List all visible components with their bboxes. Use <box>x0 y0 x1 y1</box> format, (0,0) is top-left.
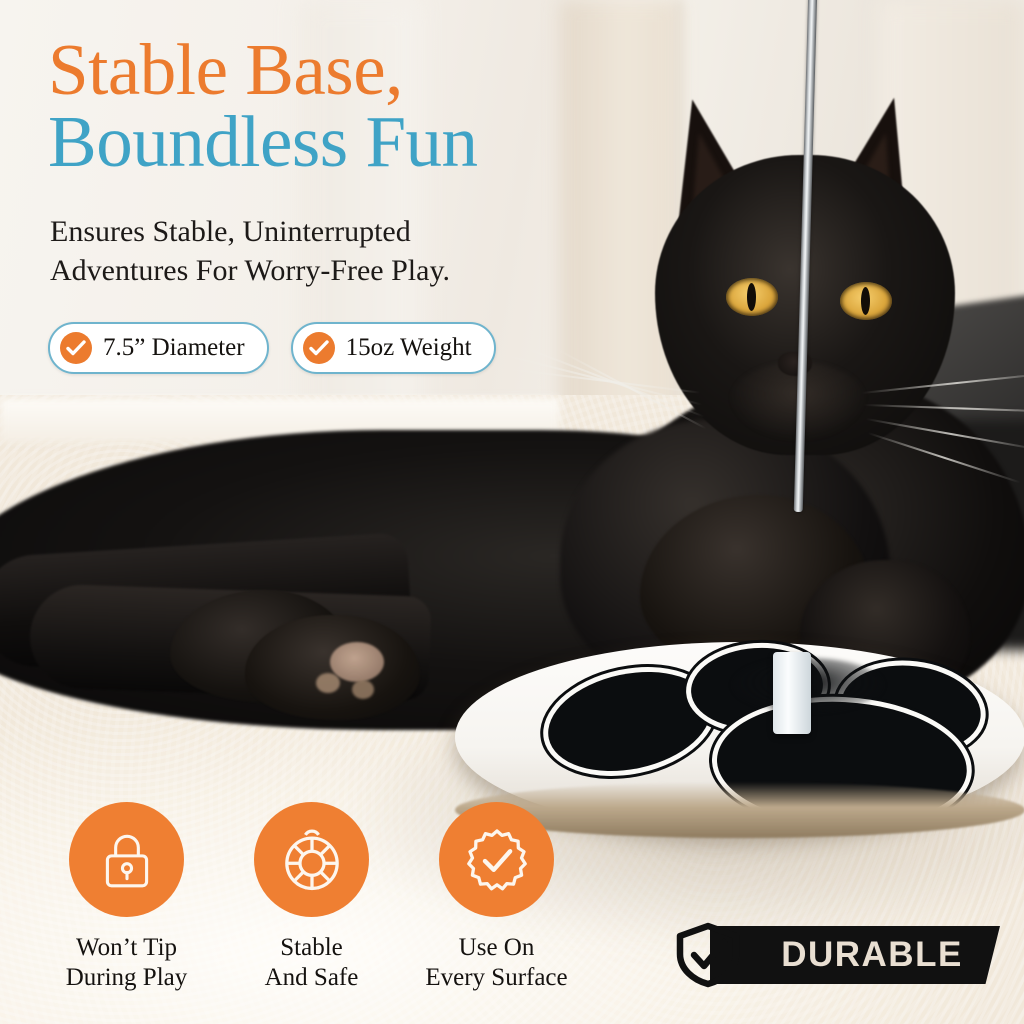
check-circle-icon <box>60 332 92 364</box>
headline-line-1: Stable Base, <box>48 34 688 106</box>
spec-pill-weight[interactable]: 15oz Weight <box>291 322 496 374</box>
page-title: Stable Base, Boundless Fun <box>48 34 688 179</box>
life-ring-icon <box>277 825 347 895</box>
durable-label: DURABLE <box>747 935 963 975</box>
spec-pill-label: 7.5” Diameter <box>103 334 245 362</box>
feature-stable-and-safe: Stable And Safe <box>229 802 394 992</box>
shield-check-icon <box>672 922 744 988</box>
feature-wont-tip: Won’t Tip During Play <box>44 802 209 992</box>
product-marketing-image: Stable Base, Boundless Fun Ensures Stabl… <box>0 0 1024 1024</box>
feature-label-line-1: Won’t Tip <box>44 933 209 963</box>
feature-label: Stable And Safe <box>229 933 394 992</box>
feature-label-line-2: During Play <box>44 963 209 993</box>
feature-label-line-1: Stable <box>229 933 394 963</box>
feature-icon-circle <box>439 802 554 917</box>
feature-label: Use On Every Surface <box>414 933 579 992</box>
feature-label-line-2: And Safe <box>229 963 394 993</box>
subheading-line-1: Ensures Stable, Uninterrupted <box>50 212 590 251</box>
feature-list: Won’t Tip During Play <box>44 802 579 992</box>
padlock-icon <box>94 827 160 893</box>
feature-icon-circle <box>254 802 369 917</box>
durable-banner-bar: DURABLE <box>710 926 1000 984</box>
subheading: Ensures Stable, Uninterrupted Adventures… <box>50 212 590 290</box>
spec-pill-diameter[interactable]: 7.5” Diameter <box>48 322 269 374</box>
spec-pill-label: 15oz Weight <box>346 334 472 362</box>
feature-icon-circle <box>69 802 184 917</box>
feature-label: Won’t Tip During Play <box>44 933 209 992</box>
badge-check-icon <box>462 825 532 895</box>
feature-label-line-2: Every Surface <box>414 963 579 993</box>
headline-line-2: Boundless Fun <box>48 106 688 178</box>
feature-every-surface: Use On Every Surface <box>414 802 579 992</box>
marketing-overlay: Stable Base, Boundless Fun Ensures Stabl… <box>0 0 1024 1024</box>
spec-pill-group: 7.5” Diameter 15oz Weight <box>48 322 496 374</box>
check-circle-icon <box>303 332 335 364</box>
feature-label-line-1: Use On <box>414 933 579 963</box>
subheading-line-2: Adventures For Worry-Free Play. <box>50 251 590 290</box>
